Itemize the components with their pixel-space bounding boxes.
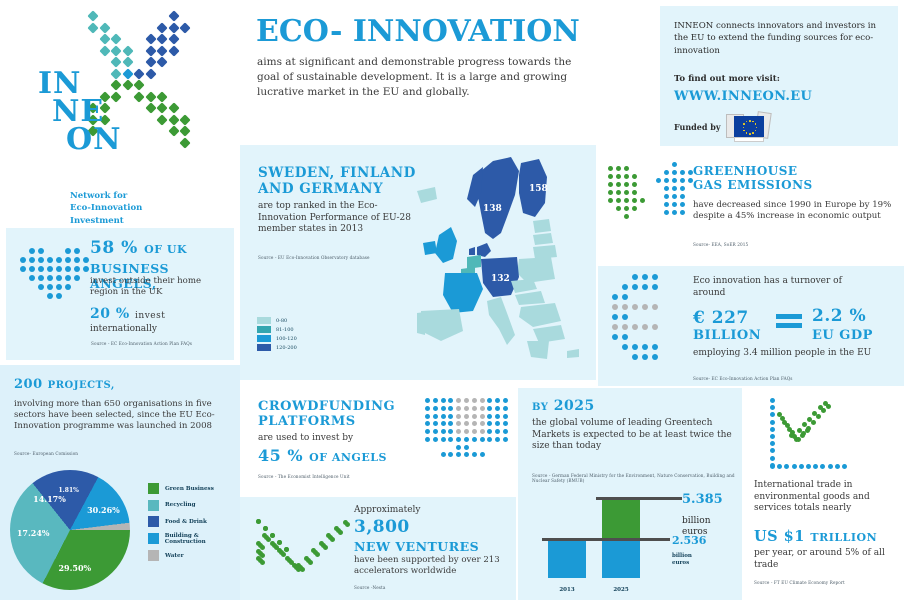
ranking-headline: SWEDEN, FINLANDAND GERMANY xyxy=(258,165,416,197)
ba-second-suffix: invest xyxy=(135,311,165,321)
crowdfunding-panel: CROWDFUNDINGPLATFORMS are used to invest… xyxy=(240,388,516,493)
map-value-sweden: 138 xyxy=(483,204,502,214)
crowdfunding-stat: 45 % OF ANGELS xyxy=(258,446,387,465)
greenhouse-panel: GREENHOUSEGAS EMISSIONS have decreased s… xyxy=(598,150,904,262)
trade-stat-prefix: US $1 xyxy=(754,528,805,545)
infographic-canvas: IN NE ON Network forEco-InnovationInvest… xyxy=(0,0,904,600)
ventures-approx: Approximately xyxy=(354,505,421,517)
greentech-headline: BY 2025 xyxy=(532,398,595,414)
greenhouse-headline: GREENHOUSEGAS EMISSIONS xyxy=(693,164,813,193)
pie-legend-item: Green Business xyxy=(148,483,240,494)
turnover-amount: € 227 xyxy=(693,308,749,328)
equals-icon xyxy=(776,314,802,332)
ranking-panel: SWEDEN, FINLANDAND GERMANY are top ranke… xyxy=(240,145,596,380)
intro-find-more: To find out more visit: xyxy=(674,74,780,85)
pie-legend-swatch xyxy=(148,550,159,561)
europe-map-svg: 158 138 132 xyxy=(415,155,595,375)
pie-legend-item: Building & Construction xyxy=(148,533,240,545)
bar-segment-blue xyxy=(548,541,586,578)
ventures-panel: Approximately 3,800 NEW VENTURES have be… xyxy=(240,497,516,600)
business-angels-panel: 58 % OF UK BUSINESS ANGELS, invest outsi… xyxy=(6,228,234,360)
greentech-prefix: BY xyxy=(532,402,548,413)
projects-headline: 200 PROJECTS, xyxy=(14,377,115,392)
map-legend-swatch xyxy=(257,335,271,342)
turnover-amount-unit: BILLION xyxy=(693,328,761,343)
projects-source: Source- European Comission xyxy=(14,451,78,456)
inneon-website-link[interactable]: WWW.INNEON.EU xyxy=(674,89,812,104)
greenhouse-source: Source- EEA, SoER 2015 xyxy=(693,242,748,247)
ba-stat-value: 58 % xyxy=(90,238,138,258)
map-legend-item: 100-120 xyxy=(257,335,297,342)
eu-flag-icon xyxy=(726,112,770,142)
map-legend-swatch xyxy=(257,344,271,351)
pie-slice-label: 17.24% xyxy=(16,528,50,538)
trade-panel: International trade in environmental goo… xyxy=(744,388,904,600)
pie-legend-swatch xyxy=(148,500,159,511)
map-legend-item: 120-200 xyxy=(257,344,297,351)
pie-slice-label: 29.50% xyxy=(58,563,92,573)
bar-category-label: 2025 xyxy=(602,587,640,593)
ba-second-value: 20 % xyxy=(90,306,130,322)
crowdfunding-source: Source - The Economist Intelligence Unit xyxy=(258,474,350,479)
projects-number: 200 xyxy=(14,377,43,392)
projects-word: PROJECTS, xyxy=(48,380,115,391)
intro-panel: INNEON connects innovators and investors… xyxy=(660,6,898,146)
bar-segment-green xyxy=(602,500,640,541)
trade-body2: per year, or around 5% of all trade xyxy=(754,548,904,571)
map-legend-label: 81-100 xyxy=(276,327,294,333)
trade-source: Source - FT EU Climate Economy Report xyxy=(754,580,845,585)
pie-legend-swatch xyxy=(148,483,159,494)
map-legend-label: 120-200 xyxy=(276,345,297,351)
ventures-number: 3,800 xyxy=(354,517,410,537)
page-title: ECO- INNOVATION xyxy=(256,14,580,49)
bar-segment-blue xyxy=(602,541,640,578)
map-legend-label: 0-80 xyxy=(276,318,287,324)
pie-slice-label: 1.81% xyxy=(52,487,86,494)
map-value-finland: 158 xyxy=(529,184,548,194)
ba-source: Source - EC Eco-Innovation Action Plan F… xyxy=(91,341,226,346)
map-legend-item: 81-100 xyxy=(257,326,297,333)
turnover-lead: Eco innovation has a turnover of around xyxy=(693,276,873,299)
turnover-body: employing 3.4 million people in the EU xyxy=(693,348,883,360)
pie-legend-label: Water xyxy=(165,553,184,559)
projects-pie-chart: 30.26%29.50%17.24%14.17%1.81% xyxy=(10,470,138,585)
heart-dots-icon xyxy=(20,248,84,318)
greentech-source: Source - German Federal Ministry for the… xyxy=(532,473,737,484)
page-subtitle: aims at significant and demonstrable pro… xyxy=(257,55,587,101)
ventures-body: have been supported by over 213 accelera… xyxy=(354,555,514,577)
turnover-percent: 2.2 % xyxy=(812,306,866,326)
bar-2013 xyxy=(548,541,586,578)
pie-legend-swatch xyxy=(148,516,159,527)
ranking-source: Source - EU Eco-Innovation Observatory d… xyxy=(258,255,438,260)
ba-stat-suffix: OF UK xyxy=(144,243,187,256)
pie-legend-item: Water xyxy=(148,550,240,561)
greentech-year: 2025 xyxy=(554,398,595,414)
map-legend: 0-8081-100100-120120-200 xyxy=(257,317,297,353)
logo-tagline: Network forEco-InnovationInvestment xyxy=(70,190,142,227)
pie-legend: Green BusinessRecyclingFood & DrinkBuild… xyxy=(148,483,240,567)
greenhouse-body: have decreased since 1990 in Europe by 1… xyxy=(693,200,893,222)
ba-second-stat: 20 % invest xyxy=(90,306,165,322)
pie-legend-item: Food & Drink xyxy=(148,516,240,527)
pie-legend-label: Building & Construction xyxy=(165,533,240,545)
europe-map: 158 138 132 xyxy=(415,155,595,375)
funded-by-label: Funded by xyxy=(674,122,720,132)
cf-stat-suffix: OF ANGELS xyxy=(309,451,387,464)
map-legend-swatch xyxy=(257,317,271,324)
pie-legend-item: Recycling xyxy=(148,500,240,511)
cf-stat-value: 45 % xyxy=(258,446,303,465)
greentech-bar-chart: 201320255.385billion euros2.536billion e… xyxy=(530,488,740,596)
projects-body: involving more than 650 organisations in… xyxy=(14,399,230,432)
crowdfunding-body: are used to invest by xyxy=(258,433,353,445)
projects-panel: 200 PROJECTS, involving more than 650 or… xyxy=(0,365,240,600)
ventures-label: NEW VENTURES xyxy=(354,539,479,554)
ba-second-line2: internationally xyxy=(90,324,157,336)
pie-slice-label: 30.26% xyxy=(86,505,120,515)
logo-letter-on: ON xyxy=(66,126,122,155)
bar-unit-2013: billion euros xyxy=(672,553,706,567)
pie-slice-label: 14.17% xyxy=(33,494,67,504)
logo: IN NE ON Network forEco-InnovationInvest… xyxy=(8,8,238,218)
map-legend-item: 0-80 xyxy=(257,317,297,324)
pie-legend-label: Recycling xyxy=(165,502,196,508)
bar-value-2025: 5.385 xyxy=(682,492,723,507)
turnover-panel: Eco innovation has a turnover of around … xyxy=(598,266,904,386)
map-legend-label: 100-120 xyxy=(276,336,297,342)
ba-body: invest outside their home region in the … xyxy=(90,276,230,298)
bar-rule-mid xyxy=(542,538,670,541)
turnover-source: Source- EC Eco-Innovation Action Plan FA… xyxy=(693,376,793,381)
bar-value-2013: 2.536 xyxy=(672,534,706,547)
trade-stat-suffix: TRILLION xyxy=(810,531,877,544)
intro-lead-text: INNEON connects innovators and investors… xyxy=(674,20,884,57)
ventures-source: Source -Nesta xyxy=(354,585,385,590)
pie-legend-label: Food & Drink xyxy=(165,519,207,525)
crowdfunding-headline: CROWDFUNDINGPLATFORMS xyxy=(258,400,395,430)
greentech-body: the global volume of leading Greentech M… xyxy=(532,418,732,453)
pie-legend-swatch xyxy=(148,533,159,544)
bar-category-label: 2013 xyxy=(548,587,586,593)
turnover-percent-label: EU GDP xyxy=(812,328,873,343)
map-value-germany: 132 xyxy=(491,274,510,284)
ranking-body: are top ranked in the Eco- Innovation Pe… xyxy=(258,201,423,236)
trade-stat: US $1 TRILLION xyxy=(754,528,877,545)
pie-legend-label: Green Business xyxy=(165,486,214,492)
greentech-panel: BY 2025 the global volume of leading Gre… xyxy=(518,388,742,600)
bar-rule-top xyxy=(596,497,682,500)
map-legend-swatch xyxy=(257,326,271,333)
trade-body: International trade in environmental goo… xyxy=(754,480,904,515)
